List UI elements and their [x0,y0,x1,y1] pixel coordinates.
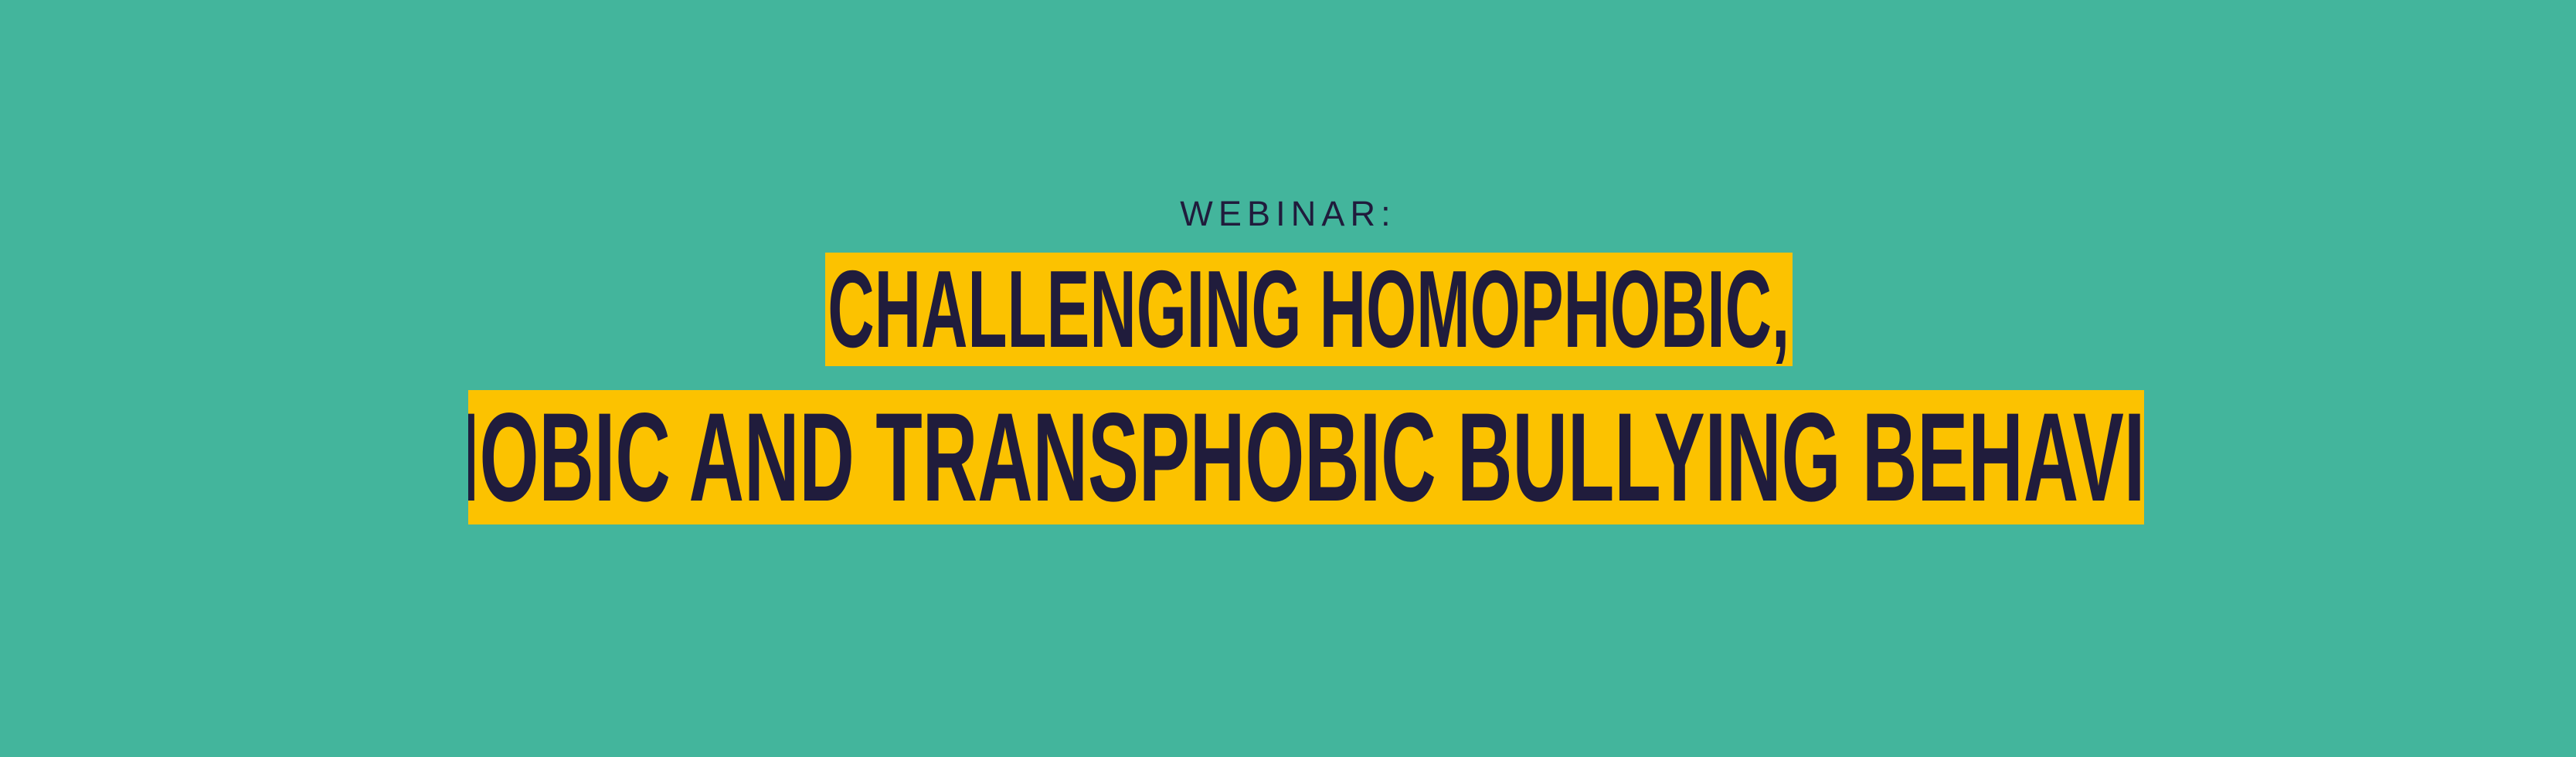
banner-1-halftone-shadow [0,0,1017,130]
webinar-title-banner: WEBINAR: CHALLENGING HOMOPHOBIC, BIPHOBI… [0,0,2576,757]
banner-2-plate: BIPHOBIC AND TRANSPHOBIC BULLYING BEHAVI… [468,390,2144,524]
banner-2-headline: BIPHOBIC AND TRANSPHOBIC BULLYING BEHAVI… [468,394,2144,520]
banner-2-halftone-shadow [0,130,1731,310]
